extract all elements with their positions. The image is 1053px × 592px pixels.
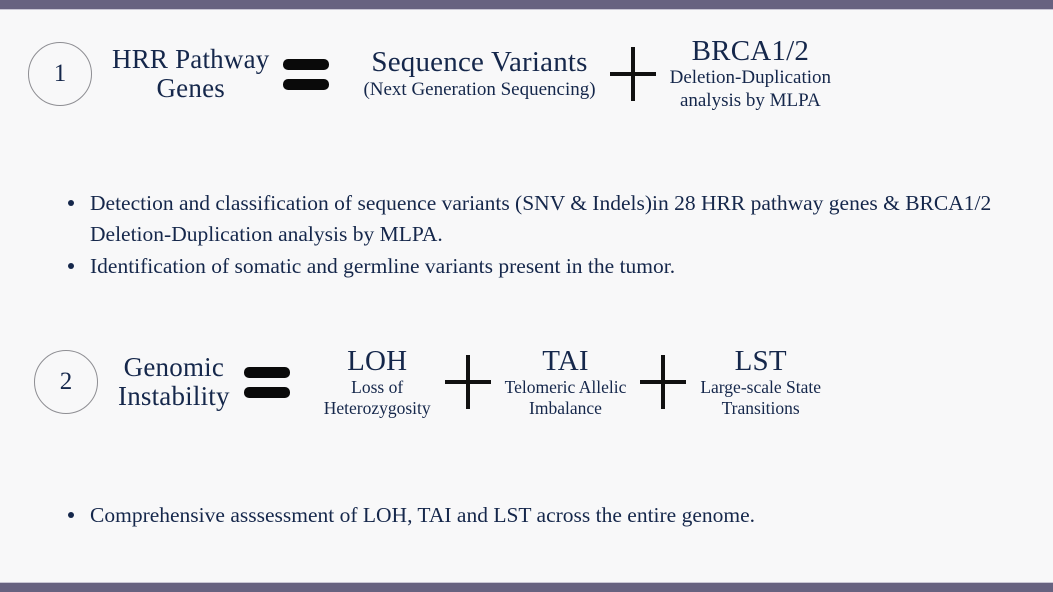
- plus-operator-2b: [640, 355, 686, 409]
- top-accent-bar: [0, 0, 1053, 10]
- step-number-badge-2: 2: [34, 350, 98, 414]
- term-subtext: Telomeric Allelic Imbalance: [505, 377, 627, 418]
- term-headline: Genomic Instability: [118, 353, 230, 411]
- term-brca-mlpa: BRCA1/2 Deletion-Duplication analysis by…: [670, 36, 831, 112]
- term-headline: LST: [700, 346, 821, 377]
- term-genomic-instability: Genomic Instability: [118, 353, 230, 411]
- equals-operator-1: [283, 59, 329, 90]
- term-hrr-pathway-genes: HRR Pathway Genes: [112, 45, 269, 103]
- equation-row-1: 1 HRR Pathway Genes Sequence Variants (N…: [28, 36, 831, 112]
- plus-operator-2a: [445, 355, 491, 409]
- list-item: Comprehensive asssessment of LOH, TAI an…: [62, 500, 1037, 531]
- list-item: Identification of somatic and germline v…: [62, 251, 1037, 282]
- term-headline: Sequence Variants: [363, 47, 595, 78]
- term-sequence-variants: Sequence Variants (Next Generation Seque…: [363, 47, 595, 101]
- term-headline: HRR Pathway Genes: [112, 45, 269, 103]
- term-tai: TAI Telomeric Allelic Imbalance: [505, 346, 627, 419]
- term-headline: TAI: [505, 346, 627, 377]
- bullet-list-1: Detection and classification of sequence…: [62, 188, 1037, 284]
- term-subtext: Deletion-Duplication analysis by MLPA: [670, 67, 831, 112]
- equals-operator-2: [244, 367, 290, 398]
- equation-row-2: 2 Genomic Instability LOH Loss of Hetero…: [34, 346, 821, 419]
- term-loh: LOH Loss of Heterozygosity: [324, 346, 431, 419]
- term-subtext: Large-scale State Transitions: [700, 377, 821, 418]
- bullet-list-2: Comprehensive asssessment of LOH, TAI an…: [62, 500, 1037, 533]
- term-headline: LOH: [324, 346, 431, 377]
- term-headline: BRCA1/2: [670, 36, 831, 67]
- slide-canvas: 1 HRR Pathway Genes Sequence Variants (N…: [0, 10, 1053, 582]
- bottom-accent-bar: [0, 582, 1053, 592]
- term-subtext: Loss of Heterozygosity: [324, 377, 431, 418]
- slide-root: 1 HRR Pathway Genes Sequence Variants (N…: [0, 0, 1053, 592]
- term-subtext: (Next Generation Sequencing): [363, 79, 595, 101]
- plus-operator-1a: [610, 47, 656, 101]
- step-number-badge-1: 1: [28, 42, 92, 106]
- list-item: Detection and classification of sequence…: [62, 188, 1037, 249]
- term-lst: LST Large-scale State Transitions: [700, 346, 821, 419]
